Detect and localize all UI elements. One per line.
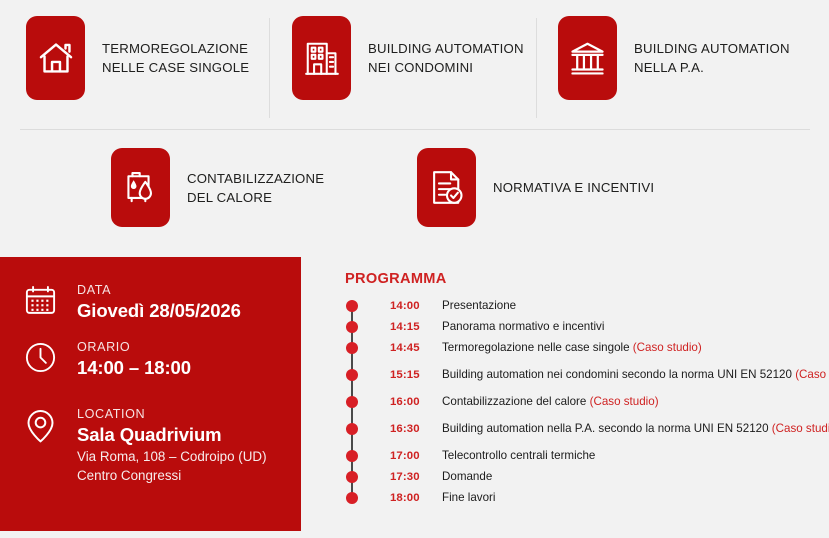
location-pin-icon [24,406,68,444]
topic-normativa-incentivi[interactable]: NORMATIVA E INCENTIVI [417,148,654,227]
topic-label: TERMOREGOLAZIONE NELLE CASE SINGOLE [102,39,249,77]
program-time: 14:15 [390,321,442,333]
program-time: 15:15 [390,369,442,381]
topic-label: BUILDING AUTOMATION NELLA P.A. [634,39,790,77]
timeline-dot-icon [346,396,358,408]
program-description-text: Domande [442,470,492,483]
program-description-text: Contabilizzazione del calore [442,395,586,408]
program-description-text: Building automation nella P.A. secondo l… [442,422,769,435]
event-info-panel: DATA Giovedì 28/05/2026 ORARIO 14:00 – 1… [0,257,301,531]
program-description: Building automation nella P.A. secondo l… [442,421,829,436]
caso-studio-badge: (Caso studio) [795,368,829,381]
caso-studio-badge: (Caso studio) [633,341,702,354]
house-icon-tile [26,16,85,100]
apartment-building-icon [304,39,340,77]
heat-meter-droplet-icon [122,169,159,206]
program-title: PROGRAMMA [345,271,829,287]
bottom-section: DATA Giovedì 28/05/2026 ORARIO 14:00 – 1… [0,257,829,538]
topic-contabilizzazione-calore[interactable]: CONTABILIZZAZIONE DEL CALORE [111,148,324,227]
info-item-data: DATA Giovedì 28/05/2026 [24,282,281,323]
program-description-text: Telecontrollo centrali termiche [442,449,595,462]
info-title: LOCATION [77,406,267,422]
program-timeline: 14:00Presentazione14:15Panorama normativ… [345,298,829,505]
info-address: Via Roma, 108 – Codroipo (UD) [77,447,267,466]
topics-section: TERMOREGOLAZIONE NELLE CASE SINGOLE [0,0,829,257]
program-row: 18:00Fine lavori [345,490,829,505]
program-time: 16:30 [390,423,442,435]
program-description: Building automation nei condomini second… [442,367,829,382]
topic-divider-vertical-2 [536,18,537,118]
program-description: Fine lavori [442,490,495,505]
program-time: 14:45 [390,342,442,354]
program-description: Presentazione [442,298,516,313]
program-time: 16:00 [390,396,442,408]
program-row: 16:30Building automation nella P.A. seco… [345,421,829,436]
program-row: 14:45Termoregolazione nelle case singole… [345,340,829,355]
program-description-text: Panorama normativo e incentivi [442,320,604,333]
program-row: 17:30Domande [345,469,829,484]
topic-label: CONTABILIZZAZIONE DEL CALORE [187,169,324,207]
program-row: 15:15Building automation nei condomini s… [345,367,829,382]
government-bank-icon-tile [558,16,617,100]
calendar-icon [24,282,68,317]
program-row: 17:00Telecontrollo centrali termiche [345,448,829,463]
topic-building-automation-pa[interactable]: BUILDING AUTOMATION NELLA P.A. [558,16,790,100]
timeline-dot-icon [346,342,358,354]
program-section: PROGRAMMA 14:00Presentazione14:15Panoram… [301,257,829,538]
program-time: 17:30 [390,471,442,483]
topic-building-automation-condomini[interactable]: BUILDING AUTOMATION NEI CONDOMINI [292,16,524,100]
program-time: 14:00 [390,300,442,312]
program-row: 14:00Presentazione [345,298,829,313]
program-description-text: Termoregolazione nelle case singole [442,341,630,354]
program-description-text: Building automation nei condomini second… [442,368,792,381]
topic-divider-horizontal [20,129,810,130]
clock-icon [24,339,68,374]
info-text-group: LOCATION Sala Quadrivium Via Roma, 108 –… [68,406,267,485]
topic-label: NORMATIVA E INCENTIVI [493,178,654,197]
timeline-dot-icon [346,492,358,504]
info-text-group: DATA Giovedì 28/05/2026 [68,282,241,323]
info-title: DATA [77,282,241,298]
timeline-dot-icon [346,450,358,462]
program-description: Telecontrollo centrali termiche [442,448,595,463]
program-description: Panorama normativo e incentivi [442,319,604,334]
timeline-dot-icon [346,369,358,381]
info-value: 14:00 – 18:00 [77,356,191,380]
info-text-group: ORARIO 14:00 – 18:00 [68,339,191,380]
info-item-location: LOCATION Sala Quadrivium Via Roma, 108 –… [24,406,281,485]
info-item-orario: ORARIO 14:00 – 18:00 [24,339,281,380]
caso-studio-badge: (Caso studio) [772,422,829,435]
info-value: Giovedì 28/05/2026 [77,299,241,323]
event-program-page: TERMOREGOLAZIONE NELLE CASE SINGOLE [0,0,829,538]
program-row: 14:15Panorama normativo e incentivi [345,319,829,334]
program-description: Domande [442,469,492,484]
program-description-text: Presentazione [442,299,516,312]
caso-studio-badge: (Caso studio) [590,395,659,408]
program-description: Termoregolazione nelle case singole (Cas… [442,340,702,355]
government-bank-icon [568,39,607,77]
program-row: 16:00Contabilizzazione del calore (Caso … [345,394,829,409]
apartment-building-icon-tile [292,16,351,100]
program-description-text: Fine lavori [442,491,495,504]
house-icon [37,39,75,77]
info-title: ORARIO [77,339,191,355]
document-check-icon [429,169,465,206]
info-value: Sala Quadrivium [77,423,267,447]
program-time: 18:00 [390,492,442,504]
program-description: Contabilizzazione del calore (Caso studi… [442,394,659,409]
topic-divider-vertical-1 [269,18,270,118]
program-time: 17:00 [390,450,442,462]
timeline-dot-icon [346,471,358,483]
timeline-dot-icon [346,300,358,312]
timeline-dot-icon [346,423,358,435]
document-check-icon-tile [417,148,476,227]
timeline-dot-icon [346,321,358,333]
heat-meter-droplet-icon-tile [111,148,170,227]
topic-label: BUILDING AUTOMATION NEI CONDOMINI [368,39,524,77]
topic-termoregolazione-case-singole[interactable]: TERMOREGOLAZIONE NELLE CASE SINGOLE [26,16,249,100]
info-venue: Centro Congressi [77,466,267,485]
